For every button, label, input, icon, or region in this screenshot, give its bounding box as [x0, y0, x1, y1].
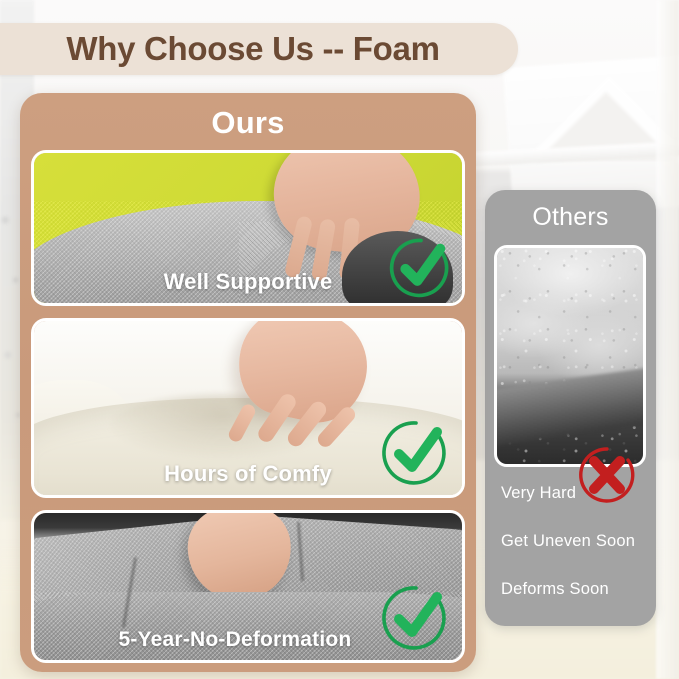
ours-feature-card-2: 5-Year-No-Deformation: [31, 510, 465, 663]
others-drawback-2: Deforms Soon: [501, 580, 640, 599]
background-right-seam: [656, 0, 679, 679]
ours-panel-title: Ours: [20, 105, 476, 141]
page-title: Why Choose Us -- Foam: [66, 30, 439, 68]
others-panel: Others Very Hard Get Uneven Soon Deforms…: [485, 190, 656, 626]
ours-feature-card-0: Well Supportive: [31, 150, 465, 306]
red-x-circle-icon: [576, 444, 638, 506]
header-banner: Why Choose Us -- Foam: [0, 23, 518, 75]
others-panel-title: Others: [485, 203, 656, 232]
infographic-canvas: Why Choose Us -- Foam Others Very Hard G…: [0, 0, 679, 679]
ours-feature-card-1: Hours of Comfy: [31, 318, 465, 498]
others-drawback-1: Get Uneven Soon: [501, 532, 640, 551]
green-check-circle-icon: [388, 235, 454, 301]
others-foam-photo: [494, 245, 646, 467]
green-check-circle-icon: [380, 417, 452, 489]
ours-panel: Ours Well Supportive: [20, 93, 476, 672]
green-check-circle-icon: [380, 582, 452, 654]
